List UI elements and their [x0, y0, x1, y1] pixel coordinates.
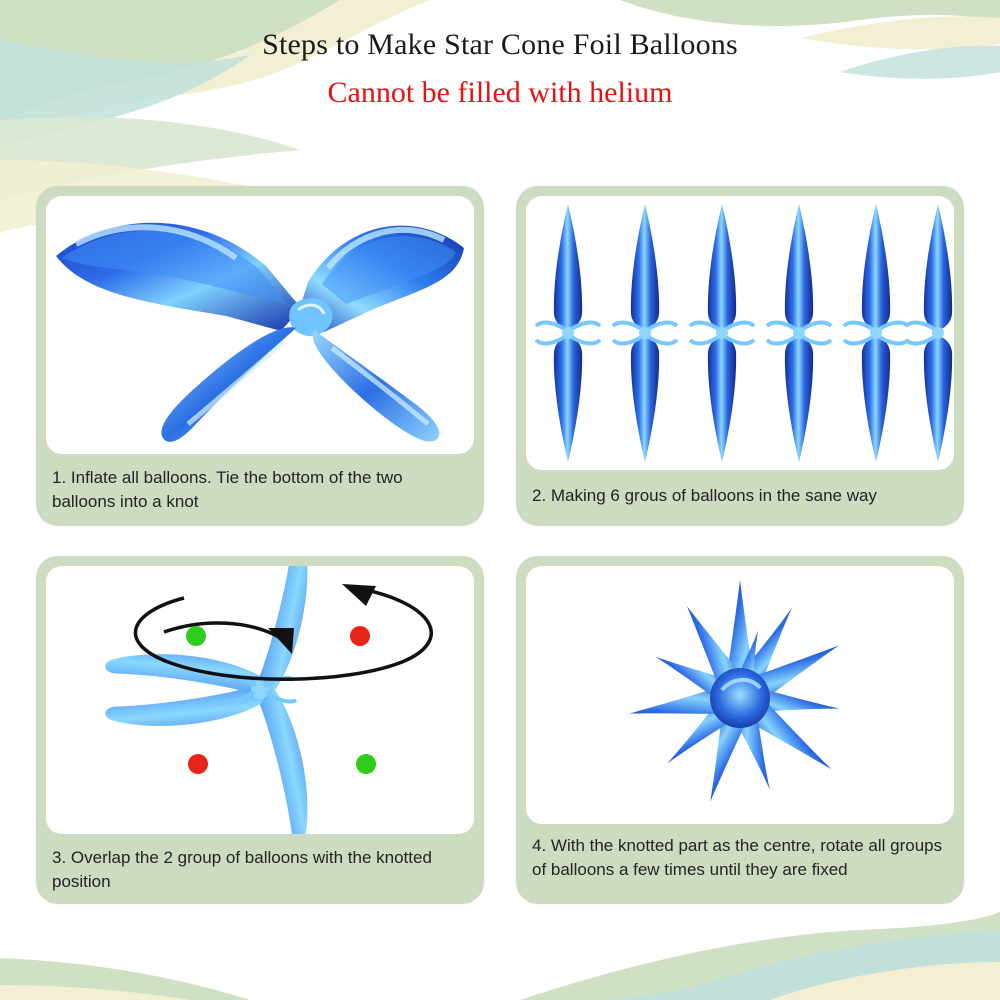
- marker-red-bottom: [188, 754, 208, 774]
- step-1-image: [46, 196, 474, 454]
- page-title: Steps to Make Star Cone Foil Balloons: [0, 28, 1000, 62]
- step-2-image: [526, 196, 954, 470]
- step-3-image: [46, 566, 474, 834]
- instruction-poster: Steps to Make Star Cone Foil Balloons Ca…: [0, 0, 1000, 1000]
- marker-green-top: [186, 626, 206, 646]
- step-card-4: 4. With the knotted part as the centre, …: [516, 556, 964, 904]
- step-3-caption: 3. Overlap the 2 group of balloons with …: [52, 846, 470, 894]
- step-1-caption: 1. Inflate all balloons. Tie the bottom …: [52, 466, 470, 514]
- step-2-caption: 2. Making 6 grous of balloons in the san…: [532, 484, 950, 508]
- step-4-caption: 4. With the knotted part as the centre, …: [532, 834, 950, 882]
- marker-red-top: [350, 626, 370, 646]
- step-4-image: [526, 566, 954, 824]
- step-card-1: 1. Inflate all balloons. Tie the bottom …: [36, 186, 484, 526]
- helium-warning: Cannot be filled with helium: [0, 76, 1000, 110]
- marker-green-bottom: [356, 754, 376, 774]
- poster-headings: Steps to Make Star Cone Foil Balloons Ca…: [0, 28, 1000, 110]
- step-card-3: 3. Overlap the 2 group of balloons with …: [36, 556, 484, 904]
- step-card-2: 2. Making 6 grous of balloons in the san…: [516, 186, 964, 526]
